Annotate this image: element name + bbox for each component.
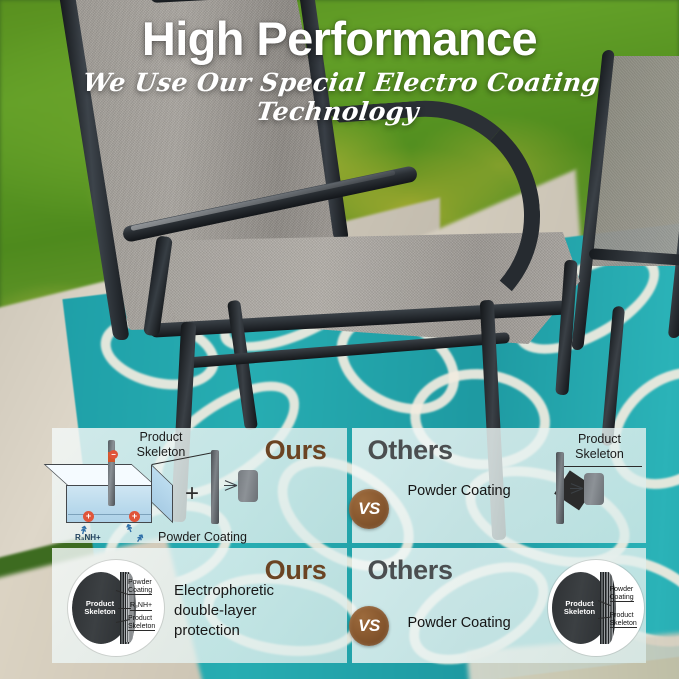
positive-charge-icon: + (83, 511, 94, 522)
cell-title-others: Others (368, 435, 453, 466)
callout-product-skeleton: Product Skeleton (610, 612, 637, 628)
tank-side-face (151, 464, 173, 523)
coating-cross-section-icon: Product Skeleton Powder Coating Product … (548, 560, 644, 656)
benefit-text: Electrophoretic double-layer protection (174, 581, 274, 640)
spray-gun-icon (238, 470, 258, 502)
headline-block: High Performance We Use Our Special Elec… (0, 14, 679, 126)
callout-powder-coating: Powder Coating (610, 586, 634, 602)
electrolyte-label: R₃NH+ (75, 533, 101, 542)
spray-fan-icon (224, 478, 238, 492)
spray-fan-icon (570, 481, 584, 495)
cell-title-others: Others (368, 555, 453, 586)
page-title: High Performance (0, 14, 679, 63)
metal-skeleton-bar-icon (211, 450, 219, 524)
cell-others-section: Others Powder Coating Product Skeleton P… (352, 548, 647, 663)
vs-badge-bottom: VS (349, 606, 389, 646)
label-powder-coating: Powder Coating (408, 615, 511, 631)
plus-operator: + (185, 480, 199, 508)
chair-stretcher (180, 332, 510, 369)
spray-gun-icon (584, 473, 604, 505)
disc-label-product-skeleton: Product Skeleton (554, 600, 606, 617)
callout-powder-coating: Powder Coating (128, 579, 152, 595)
label-underline (558, 466, 642, 467)
label-powder-coating: Powder Coating (158, 530, 247, 545)
page-subtitle: We Use Our Special Electro Coating Techn… (0, 68, 679, 126)
molecule-icon: ↟ (123, 521, 136, 537)
cell-ours-process: Ours + + ↟ ↟ ↟ R₃NH+ − (52, 428, 347, 543)
coating-cross-section-icon: Product Skeleton Powder Coating R₃NH+ Pr… (68, 560, 164, 656)
electro-coating-tank-icon: + + ↟ ↟ ↟ R₃NH+ − (66, 464, 174, 526)
label-powder-coating: Powder Coating (408, 483, 511, 499)
label-product-skeleton: Product Skeleton (558, 432, 642, 462)
comparison-panel: Ours + + ↟ ↟ ↟ R₃NH+ − (52, 428, 646, 663)
disc-label-product-skeleton: Product Skeleton (74, 600, 126, 617)
cell-others-process: Others Powder Coating Product Skeleton (352, 428, 647, 543)
product-infographic: High Performance We Use Our Special Elec… (0, 0, 679, 679)
callout-electrolyte: R₃NH+ (130, 602, 152, 611)
cell-title-ours: Ours (265, 435, 327, 466)
vs-badge-top: VS (349, 489, 389, 529)
negative-charge-icon: − (109, 450, 118, 459)
cell-ours-section: Ours Product Skeleton Powder Coating R₃N… (52, 548, 347, 663)
tank-top-face (44, 464, 156, 486)
positive-charge-icon: + (129, 511, 140, 522)
callout-product-skeleton: Product Skeleton (128, 615, 155, 631)
metal-skeleton-bar-icon (556, 452, 564, 524)
